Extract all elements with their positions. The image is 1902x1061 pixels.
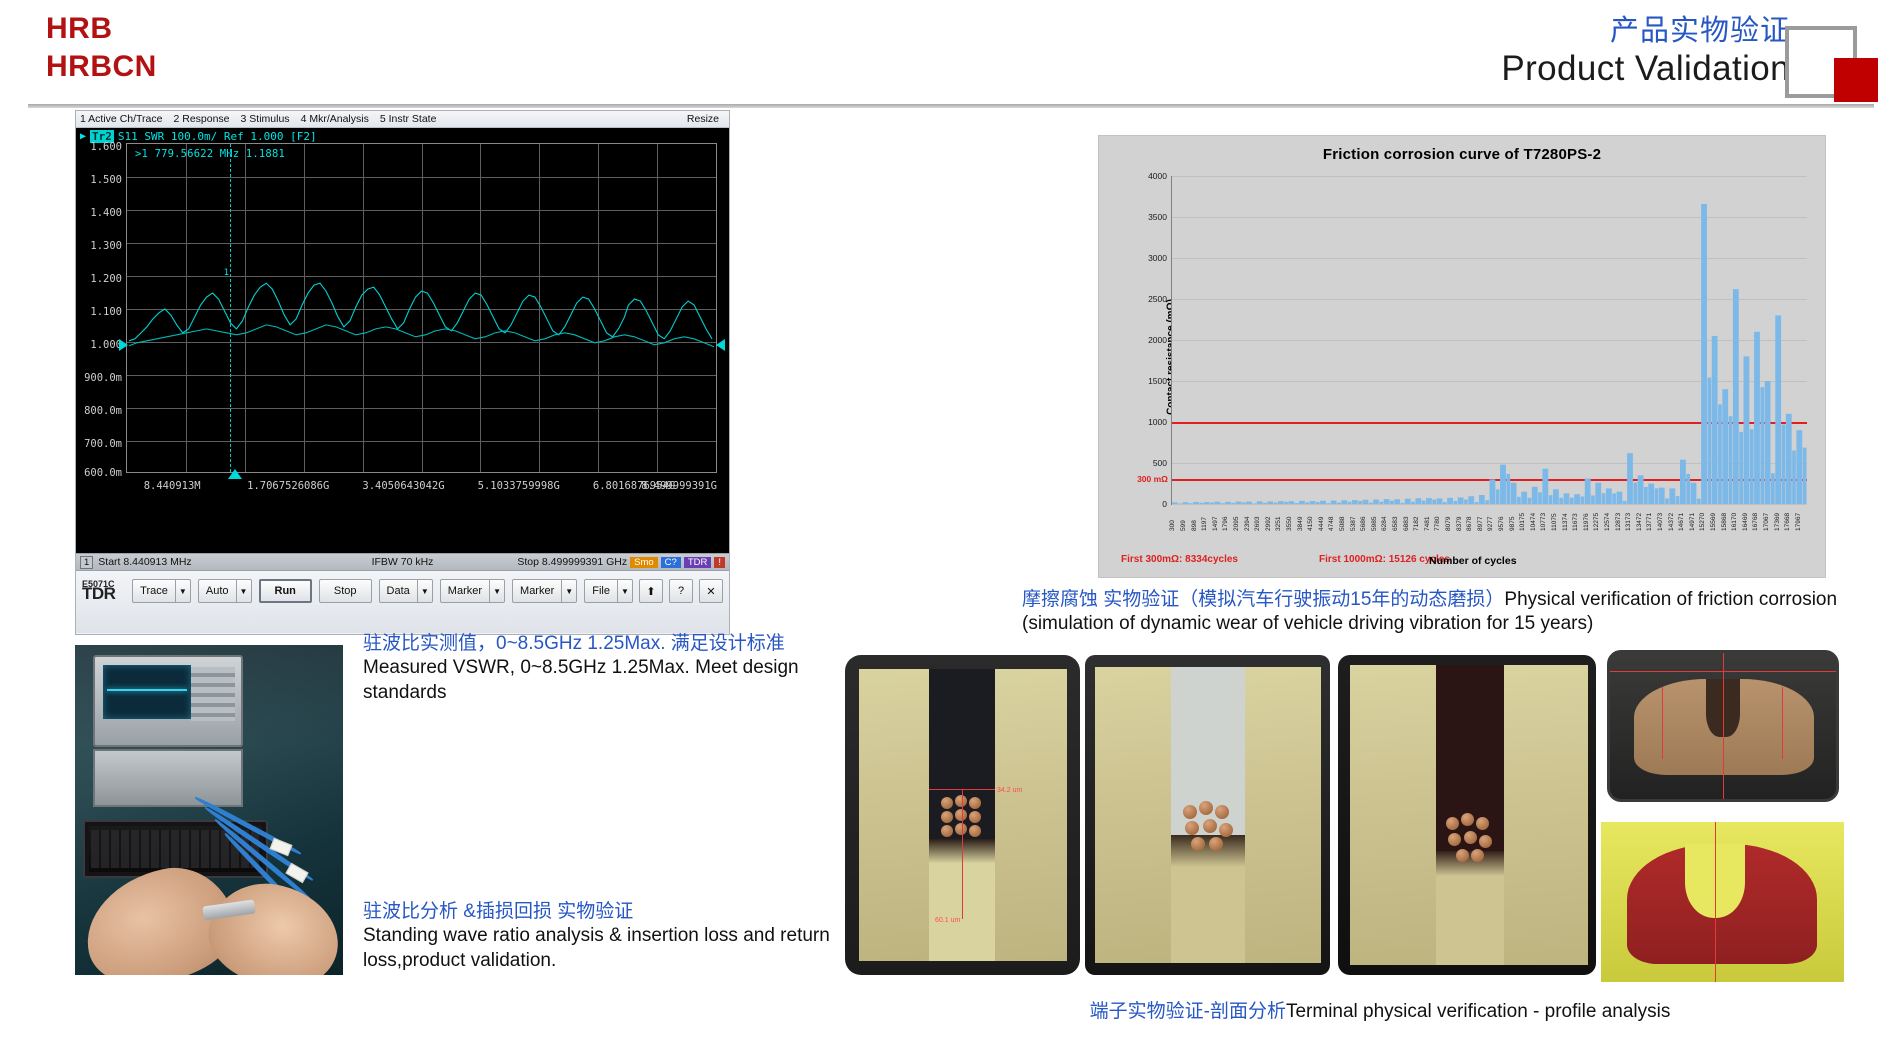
vna-display-screen: ▶ Tr2 S11 SWR 100.0m/ Ref 1.000 [F2] 1.6…	[76, 128, 729, 553]
vna-model-logo: E5071C TDR	[82, 579, 125, 601]
run-button[interactable]: Run	[259, 579, 312, 603]
up-arrow-icon[interactable]: ⬆	[639, 579, 663, 603]
chart-xtick: 14971	[1689, 513, 1696, 531]
chart-xtick: 3251	[1275, 517, 1282, 531]
marker-button-2-label: Marker	[513, 580, 561, 602]
chart-xtick: 2992	[1265, 517, 1272, 531]
chevron-down-icon[interactable]: ▼	[175, 580, 190, 602]
vna-port1-marker-icon	[119, 339, 128, 351]
chart-xtick: 898	[1191, 520, 1198, 531]
y-label-8: 800.0m	[84, 405, 122, 417]
vna-badge-tdr: TDR	[684, 557, 712, 568]
chart-xtick: 8079	[1445, 517, 1452, 531]
chart-title: Friction corrosion curve of T7280PS-2	[1099, 136, 1825, 163]
chart-limit-label-300: 300 mΩ	[1137, 474, 1168, 484]
chart-xtick: 14671	[1678, 513, 1685, 531]
vna-menu-item-instr-state[interactable]: 5 Instr State	[380, 113, 437, 125]
chart-xtick: 11673	[1572, 513, 1579, 531]
chart-ytick-500: 500	[1153, 458, 1167, 468]
auto-button-label: Auto	[199, 580, 236, 602]
chart-xtick: 4748	[1328, 517, 1335, 531]
vna-menu-item-active-ch-trace[interactable]: 1 Active Ch/Trace	[80, 113, 162, 125]
vna-swr-trace	[127, 144, 716, 472]
y-label-10: 600.0m	[84, 467, 122, 479]
chart-xtick: 7481	[1424, 517, 1431, 531]
chart-xtick: 5387	[1350, 517, 1357, 531]
vna-badge-alert: !	[714, 557, 725, 568]
chart-xtick: 9277	[1487, 517, 1494, 531]
chart-xtick: 11976	[1583, 513, 1590, 531]
vna-badge-smoothing: Smo	[630, 557, 658, 568]
marker-button-1[interactable]: Marker ▼	[440, 579, 505, 603]
chart-xtick: 16768	[1752, 513, 1759, 531]
chart-xtick: 4449	[1318, 517, 1325, 531]
chart-xtick: 13173	[1625, 513, 1632, 531]
vna-instrument-panel: 1 Active Ch/Trace 2 Response 3 Stimulus …	[75, 110, 730, 635]
chart-xtick: 1796	[1222, 517, 1229, 531]
chart-bars-series	[1172, 176, 1807, 504]
brand-line-1: HRB	[46, 10, 157, 48]
chart-xtick: 3849	[1297, 517, 1304, 531]
chart-xtick: 10474	[1530, 513, 1537, 531]
cross-section-photo-4	[1607, 650, 1839, 802]
cross-section-photo-2	[1085, 655, 1330, 975]
file-button[interactable]: File ▼	[584, 579, 633, 603]
vna-status-bar: 1 Start 8.440913 MHz IFBW 70 kHz Stop 8.…	[76, 553, 729, 571]
chart-xtick: 4150	[1307, 517, 1314, 531]
caption-swr-analysis-cn: 驻波比分析 &插损回损 实物验证	[363, 900, 833, 924]
y-label-5: 1.100	[90, 306, 122, 318]
brand-logo: HRB HRBCN	[46, 10, 157, 86]
chart-annotation-300: First 300mΩ: 8334cycles	[1121, 554, 1238, 565]
chart-xtick: 8379	[1456, 517, 1463, 531]
chart-xtick: 15868	[1721, 513, 1728, 531]
vna-plot-area: 1.600 1.500 1.400 1.300 1.200 1.100 1.00…	[76, 143, 729, 528]
chart-xtick: 13472	[1636, 513, 1643, 531]
vna-graticule: >1 779.56622 MHz 1.1881 1	[126, 143, 717, 473]
cross-section-photo-3	[1338, 655, 1596, 975]
chart-xtick: 9875	[1509, 517, 1516, 531]
chart-ytick-0: 0	[1162, 499, 1167, 509]
vna-menu-bar: 1 Active Ch/Trace 2 Response 3 Stimulus …	[76, 111, 729, 128]
help-icon[interactable]: ?	[669, 579, 693, 603]
chart-xtick: 5985	[1371, 517, 1378, 531]
vna-toolbar-right-group: File ▼ ⬆ ? ✕	[584, 579, 723, 603]
photo-signal-generator	[93, 749, 243, 807]
caption-vswr-en: Measured VSWR, 0~8.5GHz 1.25Max. Meet de…	[363, 656, 843, 705]
chevron-down-icon[interactable]: ▼	[489, 580, 504, 602]
x-label-3: 5.1033759998G	[478, 480, 560, 492]
chart-xtick: 2394	[1244, 517, 1251, 531]
chart-ytick-1500: 1500	[1148, 376, 1167, 386]
chart-xtick: 12873	[1615, 513, 1622, 531]
vna-trace-header: ▶ Tr2 S11 SWR 100.0m/ Ref 1.000 [F2]	[76, 128, 729, 143]
chart-xtick: 16170	[1731, 513, 1738, 531]
header-divider	[28, 104, 1874, 108]
chart-xtick: 6883	[1403, 517, 1410, 531]
chart-xtick: 1197	[1201, 517, 1208, 531]
caption-swr-analysis-en: Standing wave ratio analysis & insertion…	[363, 924, 833, 973]
vna-status-right-group: Stop 8.499999391 GHz Smo C? TDR !	[517, 556, 725, 568]
chart-ytick-3500: 3500	[1148, 212, 1167, 222]
chart-xtick: 13771	[1646, 513, 1653, 531]
y-label-0: 1.600	[90, 141, 122, 153]
vna-status-channel: 1	[80, 556, 93, 569]
active-trace-arrow-icon: ▶	[80, 131, 86, 142]
x-label-2: 3.4050643042G	[362, 480, 444, 492]
chart-ytick-2500: 2500	[1148, 294, 1167, 304]
chart-xtick: 10773	[1540, 513, 1547, 531]
x-label-0: 8.440913M	[144, 480, 201, 492]
page-title-cn: 产品实物验证	[1501, 14, 1790, 48]
caption-friction: 摩擦腐蚀 实物验证（模拟汽车行驶振动15年的动态磨损）Physical veri…	[1022, 588, 1882, 637]
friction-corrosion-chart: Friction corrosion curve of T7280PS-2 Co…	[1098, 135, 1826, 578]
chart-xtick: 1497	[1212, 517, 1219, 531]
chevron-down-icon[interactable]: ▼	[236, 580, 251, 602]
chart-xtick: 15270	[1699, 513, 1706, 531]
chart-xtick: 2693	[1254, 517, 1261, 531]
chart-xtick: 17369	[1774, 513, 1781, 531]
file-button-label: File	[585, 580, 617, 602]
chart-xtick: 6583	[1392, 517, 1399, 531]
chart-xtick: 599	[1180, 520, 1187, 531]
brand-line-2: HRBCN	[46, 48, 157, 86]
y-label-4: 1.200	[90, 273, 122, 285]
chart-xtick: 15569	[1710, 513, 1717, 531]
vna-y-axis-labels: 1.600 1.500 1.400 1.300 1.200 1.100 1.00…	[76, 143, 124, 473]
vna-port2-marker-icon	[716, 339, 725, 351]
y-label-1: 1.500	[90, 174, 122, 186]
chart-xtick: 14372	[1668, 513, 1675, 531]
chart-xtick: 17067	[1763, 513, 1770, 531]
chevron-down-icon[interactable]: ▼	[617, 580, 632, 602]
chart-xtick: 10175	[1519, 513, 1526, 531]
y-label-3: 1.300	[90, 240, 122, 252]
trace-button[interactable]: Trace ▼	[132, 579, 191, 603]
cross-section-photo-5	[1601, 822, 1844, 982]
chart-xtick: 17967	[1795, 513, 1802, 531]
vna-resize-button[interactable]: Resize	[687, 113, 719, 125]
chart-ytick-4000: 4000	[1148, 171, 1167, 181]
vna-badge-correction: C?	[661, 557, 681, 568]
chevron-down-icon[interactable]: ▼	[561, 580, 576, 602]
caption-friction-cn: 摩擦腐蚀 实物验证（模拟汽车行驶振动15年的动态磨损）	[1022, 589, 1504, 610]
slide-root: HRB HRBCN 产品实物验证 Product Validation 1 Ac…	[0, 0, 1902, 1061]
vna-x-axis-labels: 8.440913M 1.7067526086G 3.4050643042G 5.…	[126, 476, 717, 498]
y-label-9: 700.0m	[84, 438, 122, 450]
chevron-down-icon[interactable]: ▼	[417, 580, 432, 602]
chart-xtick: 5686	[1360, 517, 1367, 531]
chart-xtick: 12574	[1604, 513, 1611, 531]
caption-swr-analysis: 驻波比分析 &插损回损 实物验证 Standing wave ratio ana…	[363, 900, 833, 973]
cross-section-photo-1: 34.2 um 60.1 um	[845, 655, 1080, 975]
chart-xtick: 11075	[1551, 513, 1558, 531]
data-button[interactable]: Data ▼	[379, 579, 433, 603]
vna-model-suffix: TDR	[82, 584, 115, 603]
caption-terminal: 端子实物验证-剖面分析Terminal physical verificatio…	[930, 1000, 1830, 1024]
chart-xtick: 11374	[1562, 513, 1569, 531]
chart-xtick: 12275	[1593, 513, 1600, 531]
y-label-6: 1.000	[90, 339, 122, 351]
x-label-1: 1.7067526086G	[247, 480, 329, 492]
page-title-en: Product Validation	[1501, 48, 1790, 90]
chart-x-axis-ticks: 3005998981197149717962095239426932992325…	[1171, 505, 1807, 531]
vna-menu-item-stimulus[interactable]: 3 Stimulus	[241, 113, 290, 125]
logo-red-square	[1834, 58, 1878, 102]
chart-x-axis-title: Number of cycles	[1429, 555, 1805, 567]
page-title: 产品实物验证 Product Validation	[1501, 14, 1790, 90]
test-bench-photo	[75, 645, 343, 975]
trace-button-label: Trace	[133, 580, 175, 602]
chart-ytick-2000: 2000	[1148, 335, 1167, 345]
stop-button[interactable]: Stop	[319, 579, 372, 603]
y-label-7: 900.0m	[84, 372, 122, 384]
chart-xtick: 300	[1169, 520, 1176, 531]
photo-hand-right	[201, 874, 343, 975]
caption-terminal-en: Terminal physical verification - profile…	[1286, 1001, 1670, 1022]
chart-xtick: 3550	[1286, 517, 1293, 531]
marker-button-1-label: Marker	[441, 580, 489, 602]
chart-ytick-1000: 1000	[1148, 417, 1167, 427]
caption-terminal-cn: 端子实物验证-剖面分析	[1090, 1001, 1286, 1022]
vna-toolbar: E5071C TDR Trace ▼ Auto ▼ Run Stop Data …	[76, 571, 729, 633]
chart-xtick: 6284	[1381, 517, 1388, 531]
vna-status-start[interactable]: Start 8.440913 MHz	[98, 556, 191, 568]
chart-xtick: 7780	[1434, 517, 1441, 531]
trace-format-text: S11 SWR 100.0m/ Ref 1.000 [F2]	[118, 130, 317, 143]
chart-xtick: 17668	[1784, 513, 1791, 531]
caption-vswr-cn: 驻波比实测值，0~8.5GHz 1.25Max. 满足设计标准	[363, 632, 843, 656]
vna-menu-item-mkr-analysis[interactable]: 4 Mkr/Analysis	[301, 113, 369, 125]
chart-xtick: 8678	[1466, 517, 1473, 531]
marker-button-2[interactable]: Marker ▼	[512, 579, 577, 603]
auto-button[interactable]: Auto ▼	[198, 579, 252, 603]
chart-xtick: 16469	[1742, 513, 1749, 531]
y-label-2: 1.400	[90, 207, 122, 219]
vna-status-ifbw[interactable]: IFBW 70 kHz	[372, 556, 434, 568]
chart-xtick: 7182	[1413, 517, 1420, 531]
chart-xtick: 2095	[1233, 517, 1240, 531]
chart-xtick: 14073	[1657, 513, 1664, 531]
chart-xtick: 8977	[1477, 517, 1484, 531]
vna-status-stop[interactable]: Stop 8.499999391 GHz	[517, 556, 627, 568]
chart-ytick-3000: 3000	[1148, 253, 1167, 263]
chart-plot-area: 4000 3500 3000 2500 2000 1500 1000 500 0…	[1171, 176, 1807, 505]
photo-vna-instrument	[93, 655, 243, 747]
chart-xtick: 9576	[1498, 517, 1505, 531]
chart-xtick: 5088	[1339, 517, 1346, 531]
close-icon[interactable]: ✕	[699, 579, 723, 603]
data-button-label: Data	[380, 580, 417, 602]
x-label-5: 8.499999391G	[641, 480, 717, 492]
vna-menu-item-response[interactable]: 2 Response	[173, 113, 229, 125]
caption-vswr: 驻波比实测值，0~8.5GHz 1.25Max. 满足设计标准 Measured…	[363, 632, 843, 705]
